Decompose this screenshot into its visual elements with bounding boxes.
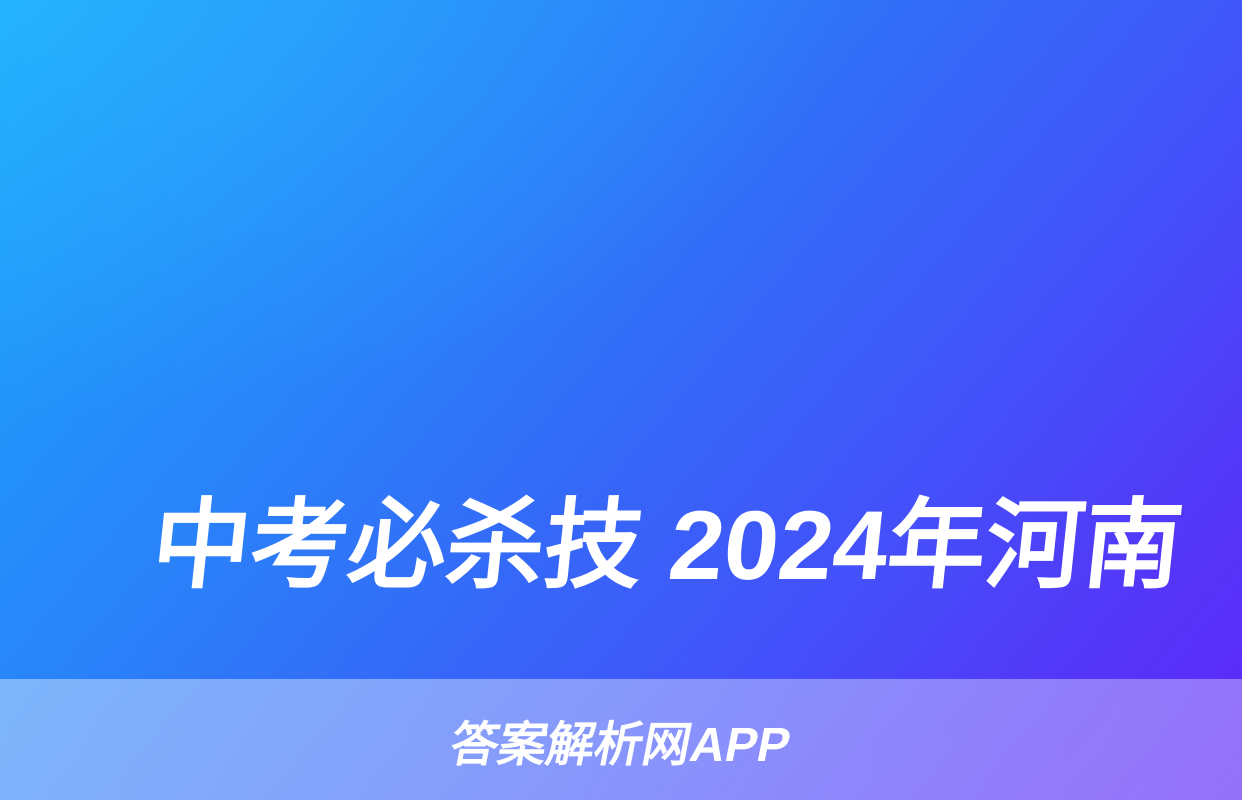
footer-brand-text: 答案解析网APP: [0, 705, 1242, 775]
footer-brand-bar: 答案解析网APP: [0, 679, 1242, 800]
page-title-line-1: 中考必杀技 2024年河南: [69, 472, 1242, 619]
footer-brand-label: 答案解析网APP: [445, 705, 797, 775]
poster-banner: 中考必杀技 2024年河南 省普通高中招生考试答案 (语文 答案解析网APP: [0, 0, 1242, 800]
